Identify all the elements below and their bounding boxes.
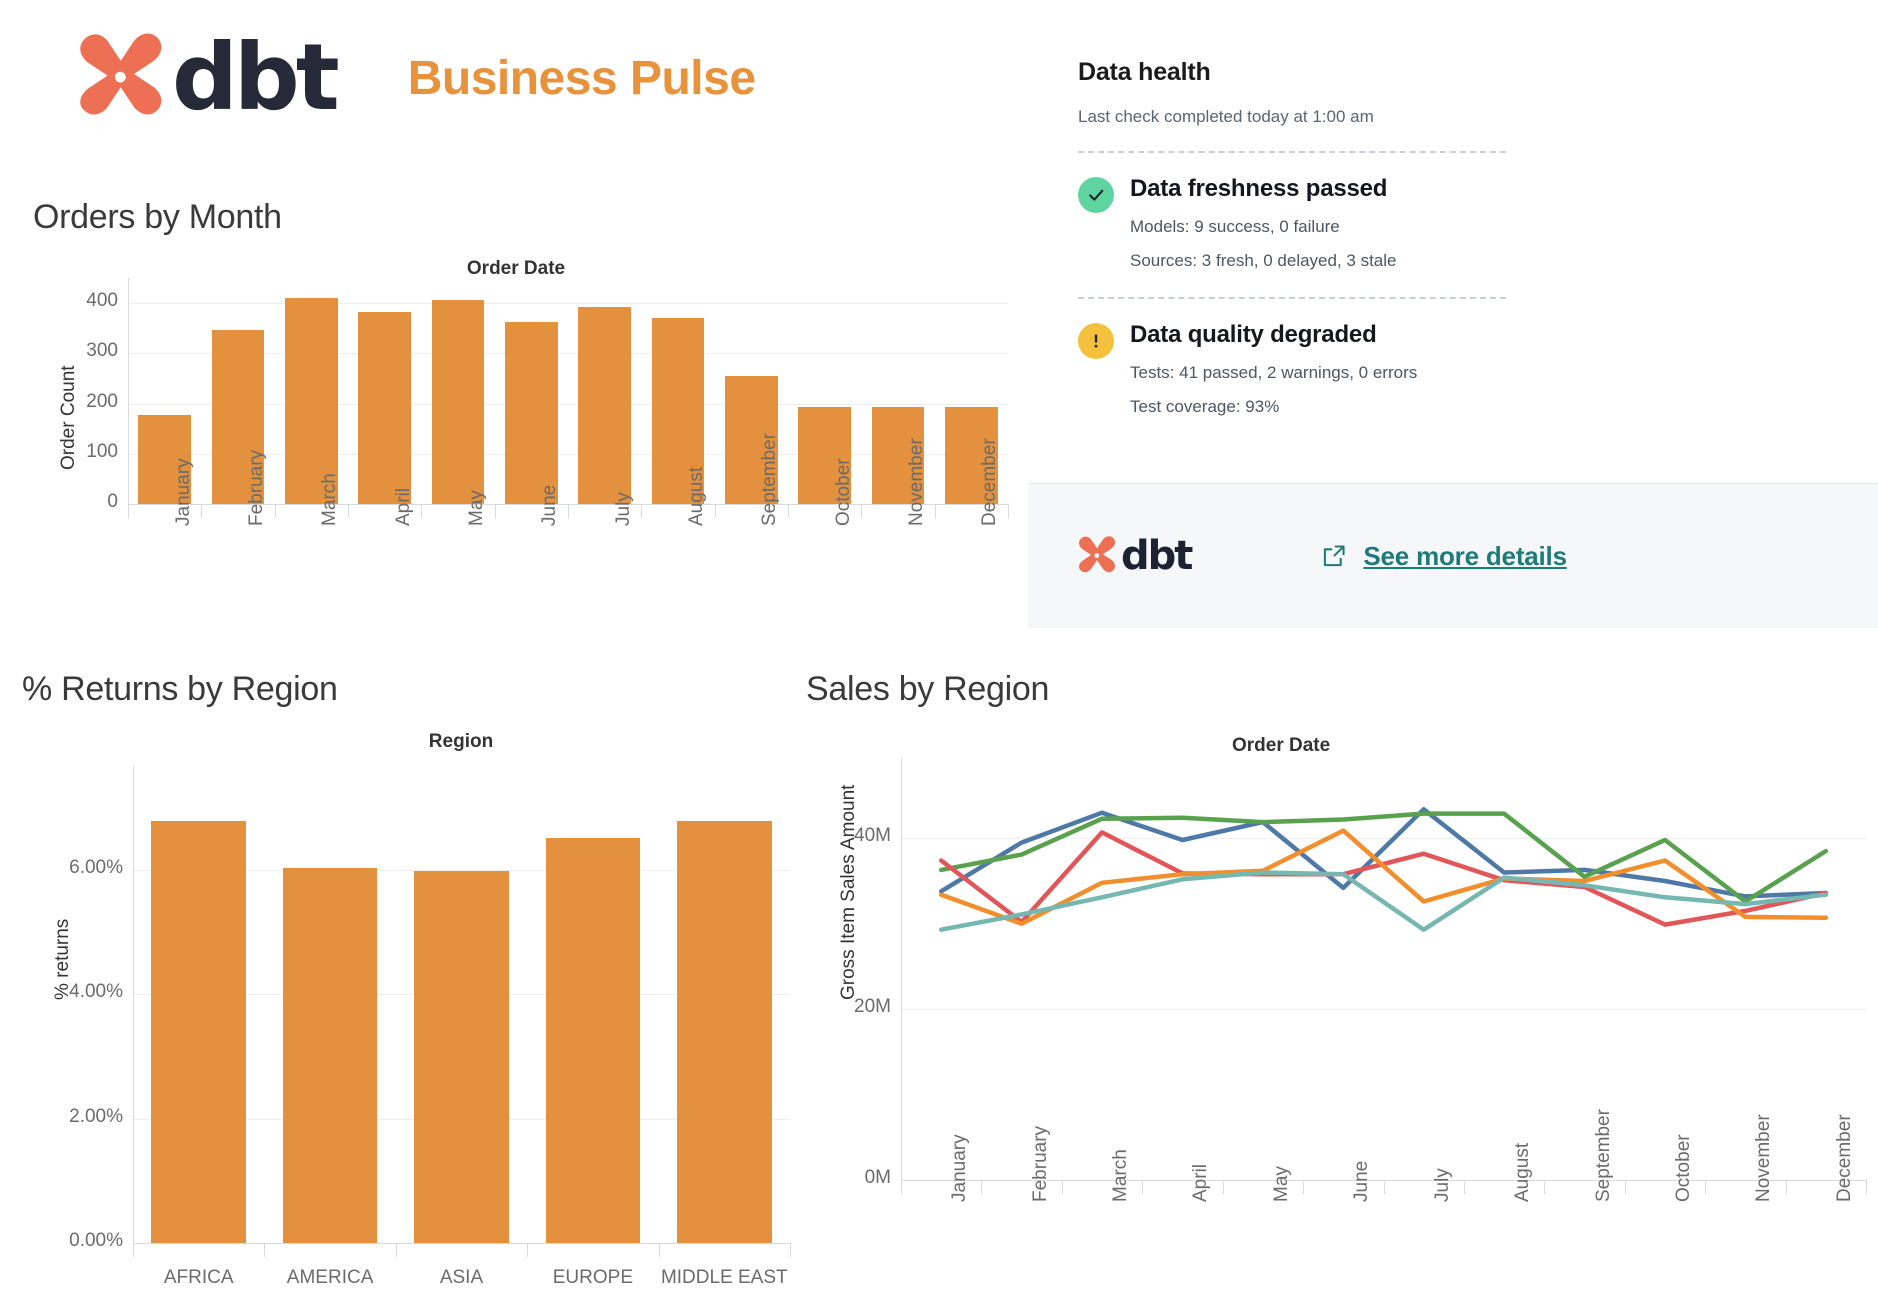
line-series bbox=[941, 814, 1826, 902]
gridline bbox=[901, 838, 1866, 839]
line-series bbox=[941, 809, 1826, 896]
x-axis-tick-label: August bbox=[1512, 1143, 1534, 1202]
y-axis-tick: 40M bbox=[805, 825, 891, 847]
sales-by-region-chart: Order DateGross Item Sales Amount0M20M40… bbox=[0, 0, 1878, 1312]
x-axis-tick-mark bbox=[1223, 1180, 1224, 1194]
x-axis-tick-mark bbox=[1786, 1180, 1787, 1194]
check-circle-icon bbox=[1078, 177, 1114, 213]
x-axis-tick-label: March bbox=[1110, 1149, 1132, 1202]
dbt-footer-logo: dbt bbox=[1078, 533, 1191, 579]
external-link-icon bbox=[1321, 543, 1347, 569]
dashboard-page: dbt Business Pulse Orders by Month % Ret… bbox=[0, 0, 1878, 1312]
x-axis-tick-mark bbox=[1625, 1180, 1626, 1194]
x-axis-tick-mark bbox=[981, 1180, 982, 1194]
gridline bbox=[901, 1009, 1866, 1010]
y-axis-line bbox=[901, 758, 902, 1180]
y-axis-tick: 20M bbox=[805, 996, 891, 1018]
status-detail: Test coverage: 93% bbox=[1130, 397, 1417, 417]
line-series bbox=[941, 873, 1826, 930]
divider bbox=[1078, 297, 1506, 299]
data-health-subtitle: Last check completed today at 1:00 am bbox=[1078, 107, 1510, 127]
divider bbox=[1078, 151, 1506, 153]
data-health-item-quality: Data quality degraded Tests: 41 passed, … bbox=[1078, 321, 1510, 417]
x-axis-tick-label: June bbox=[1351, 1161, 1373, 1202]
status-detail: Models: 9 success, 0 failure bbox=[1130, 217, 1397, 237]
x-axis-tick-mark bbox=[1866, 1180, 1867, 1194]
x-axis-tick-label: December bbox=[1834, 1114, 1856, 1202]
status-title: Data freshness passed bbox=[1130, 175, 1397, 203]
dbt-x-icon bbox=[1078, 535, 1118, 577]
chart-header: Order Date bbox=[1232, 735, 1330, 757]
x-axis-tick-label: April bbox=[1190, 1164, 1212, 1202]
see-more-details-label: See more details bbox=[1363, 541, 1566, 572]
line-series bbox=[941, 831, 1826, 924]
x-axis-tick-mark bbox=[1544, 1180, 1545, 1194]
data-health-title: Data health bbox=[1078, 58, 1510, 87]
data-health-footer: dbt See more details bbox=[1028, 483, 1878, 628]
x-axis-tick-label: November bbox=[1753, 1114, 1775, 1202]
x-axis-tick-label: July bbox=[1432, 1168, 1454, 1202]
warning-circle-icon bbox=[1078, 323, 1114, 359]
x-axis-tick-mark bbox=[1142, 1180, 1143, 1194]
status-detail: Tests: 41 passed, 2 warnings, 0 errors bbox=[1130, 363, 1417, 383]
x-axis-tick-mark bbox=[1705, 1180, 1706, 1194]
x-axis-tick-mark bbox=[1464, 1180, 1465, 1194]
line-series bbox=[941, 832, 1826, 924]
see-more-details-link[interactable]: See more details bbox=[1321, 541, 1566, 572]
data-health-panel: Data health Last check completed today a… bbox=[1078, 58, 1510, 417]
status-detail: Sources: 3 fresh, 0 delayed, 3 stale bbox=[1130, 251, 1397, 271]
x-axis-tick-mark bbox=[901, 1180, 902, 1194]
data-health-item-freshness: Data freshness passed Models: 9 success,… bbox=[1078, 175, 1510, 271]
x-axis-tick-label: September bbox=[1593, 1109, 1615, 1202]
x-axis-tick-mark bbox=[1062, 1180, 1063, 1194]
x-axis-tick-label: May bbox=[1271, 1166, 1293, 1202]
status-title: Data quality degraded bbox=[1130, 321, 1417, 349]
y-axis-title: Gross Item Sales Amount bbox=[838, 785, 860, 1000]
x-axis-tick-label: January bbox=[949, 1134, 971, 1202]
x-axis-tick-label: October bbox=[1673, 1134, 1695, 1202]
y-axis-tick: 0M bbox=[805, 1167, 891, 1189]
x-axis-tick-mark bbox=[1384, 1180, 1385, 1194]
x-axis-tick-mark bbox=[1303, 1180, 1304, 1194]
dbt-footer-wordmark: dbt bbox=[1121, 533, 1191, 579]
x-axis-tick-label: February bbox=[1030, 1126, 1052, 1202]
